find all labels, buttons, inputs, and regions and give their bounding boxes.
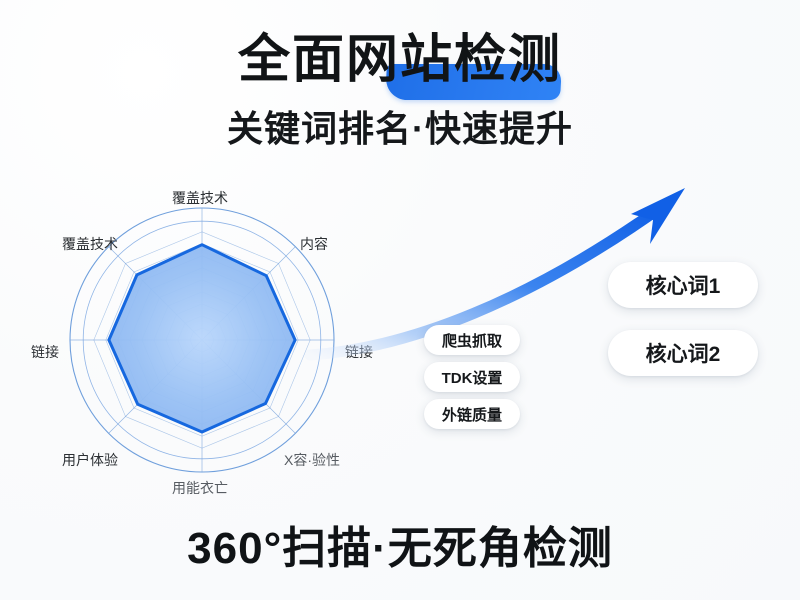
header-block: 全面网站检测 关键词排名·快速提升 [0,34,800,152]
metric-pill-0[interactable]: 爬虫抓取 [424,325,520,355]
page-tagline: 360°扫描·无死角检测 [0,512,800,576]
keyword-pill-label: 核心词1 [646,270,721,300]
radar-data-polygon [109,245,295,432]
radar-axis-label-5: 用户体验 [62,450,118,470]
keyword-pill-label: 核心词2 [646,338,721,368]
radar-axis-label-3: X容·验性 [284,450,340,470]
keyword-pill-1[interactable]: 核心词2 [608,330,758,376]
radar-axis-label-0: 覆盖技术 [172,188,228,208]
growth-arrow-head [631,188,685,244]
keyword-pill-0[interactable]: 核心词1 [608,262,758,308]
metric-pill-label: 爬虫抓取 [442,330,502,351]
page-title-text: 全面网站检测 [238,31,562,89]
radar-axis-label-4: 用能衣亡 [172,478,228,498]
poster-canvas: 全面网站检测 关键词排名·快速提升 覆盖技术 内容 链接 X容·验性 用能衣亡 … [0,0,800,600]
metric-pill-1[interactable]: TDK设置 [424,362,520,392]
metric-pill-2[interactable]: 外链质量 [424,399,520,429]
metric-pill-label: TDK设置 [442,367,503,388]
page-subtitle: 关键词排名·快速提升 [0,100,800,152]
metric-pill-label: 外链质量 [442,404,502,425]
radar-axis-label-6: 链接 [31,342,59,362]
radar-axis-label-7: 覆盖技术 [62,234,118,254]
page-title: 全面网站检测 [238,34,562,86]
